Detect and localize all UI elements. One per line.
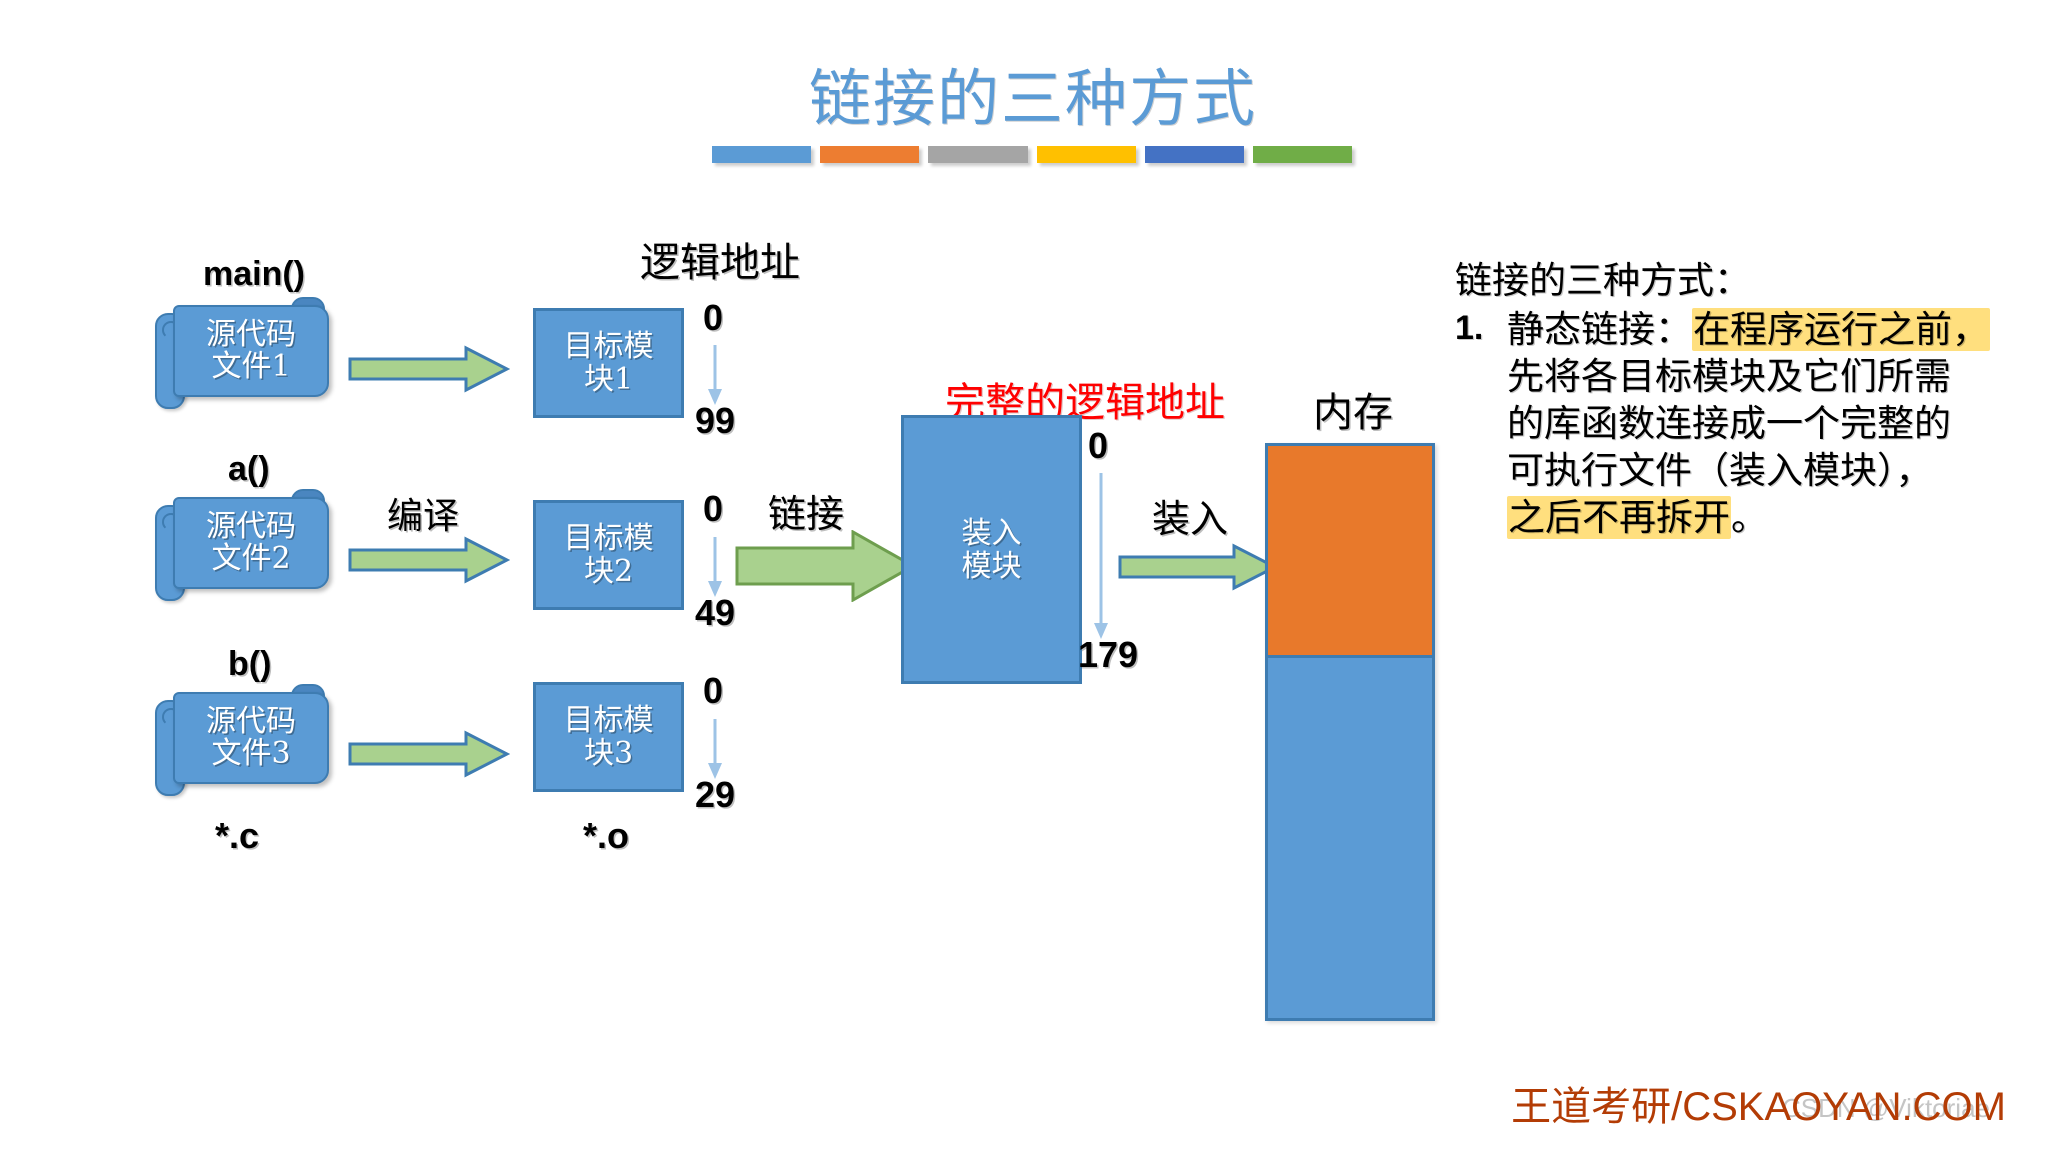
memory-block[interactable] [1265,443,1435,1021]
notes-item-1: 1. 静态链接：在程序运行之前，先将各目标模块及它们所需的库函数连接成一个完整的… [1455,307,2055,542]
source-file-3-body: 源代码 文件3 [173,692,329,784]
object-module-3-line2: 块3 [584,737,633,770]
brand-footer: 王道考研/CSKAOYAN.COM [1511,1074,2006,1132]
object-module-3[interactable]: 目标模 块3 [533,682,684,792]
load-module-start-address: 0 [1088,425,1108,467]
source-file-3-function: b() [228,645,271,684]
notes-heading: 链接的三种方式： [1455,258,2055,305]
notes-item-1-number: 1. [1455,307,1507,350]
source-file-1-line2: 文件1 [211,351,290,383]
object-module-2[interactable]: 目标模 块2 [533,500,684,610]
object-module-1-start-address: 0 [703,297,723,339]
page-title: 链接的三种方式 [0,48,2066,138]
source-file-3-line1: 源代码 [206,706,296,738]
object-module-2-line2: 块2 [584,555,633,588]
object-module-3-address-arrow-icon [700,719,730,781]
load-module-address-arrow-icon [1086,473,1116,641]
load-module-box[interactable]: 装入 模块 [901,415,1082,684]
object-module-1-end-address: 99 [695,400,735,442]
notes-highlight-1: 在程序运行之前， [1692,308,1990,351]
load-module-line1: 装入 [962,517,1022,550]
compile-arrow-3 [348,730,510,778]
memory-segment-free [1268,658,1432,1018]
notes-tail: 。 [1731,496,1768,539]
object-module-2-end-address: 49 [695,592,735,634]
load-label: 装入 [1152,488,1228,543]
object-module-3-start-address: 0 [703,670,723,712]
source-file-1-line1: 源代码 [206,319,296,351]
source-file-1-body: 源代码 文件1 [173,305,329,397]
notes-line-2: 先将各目标模块及它们所需 [1507,355,1951,398]
notes-highlight-2: 之后不再拆开 [1507,496,1731,539]
load-module-line2: 模块 [962,550,1022,583]
compile-label: 编译 [387,487,459,539]
object-module-2-line1: 目标模 [564,522,654,555]
compile-arrow-2 [348,536,510,584]
title-accent-bars [712,146,1352,164]
object-suffix-label: *.o [583,815,629,857]
object-module-3-end-address: 29 [695,774,735,816]
object-module-1-address-arrow-icon [700,345,730,407]
object-module-2-address-arrow-icon [700,537,730,599]
load-arrow [1118,543,1278,591]
title-bar-1 [712,146,811,163]
source-file-2[interactable]: 源代码 文件2 [155,497,325,592]
notes-panel: 链接的三种方式： 1. 静态链接：在程序运行之前，先将各目标模块及它们所需的库函… [1455,258,2055,542]
object-module-1[interactable]: 目标模 块1 [533,308,684,418]
source-suffix-label: *.c [215,815,259,857]
memory-header: 内存 [1313,380,1393,438]
object-module-2-start-address: 0 [703,488,723,530]
notes-line-4: 可执行文件（装入模块）， [1507,449,1933,492]
source-file-3[interactable]: 源代码 文件3 [155,692,325,787]
link-arrow [735,530,915,602]
compile-arrow-1 [348,345,510,393]
logical-address-header: 逻辑地址 [640,230,800,288]
source-file-2-body: 源代码 文件2 [173,497,329,589]
title-bar-3 [928,146,1027,163]
source-file-2-function: a() [228,450,270,489]
object-module-3-line1: 目标模 [564,704,654,737]
object-module-1-line2: 块1 [584,363,633,396]
load-module-end-address: 179 [1078,634,1138,676]
memory-segment-used [1268,446,1432,658]
notes-item-1-label: 静态链接： [1507,308,1692,351]
title-bar-4 [1037,146,1136,163]
source-file-3-line2: 文件3 [211,738,290,770]
source-file-2-line1: 源代码 [206,511,296,543]
title-bar-6 [1253,146,1352,163]
source-file-2-line2: 文件2 [211,543,290,575]
title-bar-5 [1145,146,1244,163]
title-bar-2 [820,146,919,163]
source-file-1[interactable]: 源代码 文件1 [155,305,325,400]
source-file-1-function: main() [203,255,305,294]
slide-canvas: 链接的三种方式 逻辑地址 完整的逻辑地址 内存 main() 源代码 文件1 a… [0,0,2066,1150]
object-module-1-line1: 目标模 [564,330,654,363]
notes-item-1-body: 静态链接：在程序运行之前，先将各目标模块及它们所需的库函数连接成一个完整的可执行… [1507,307,2055,542]
notes-line-3: 的库函数连接成一个完整的 [1507,402,1951,445]
